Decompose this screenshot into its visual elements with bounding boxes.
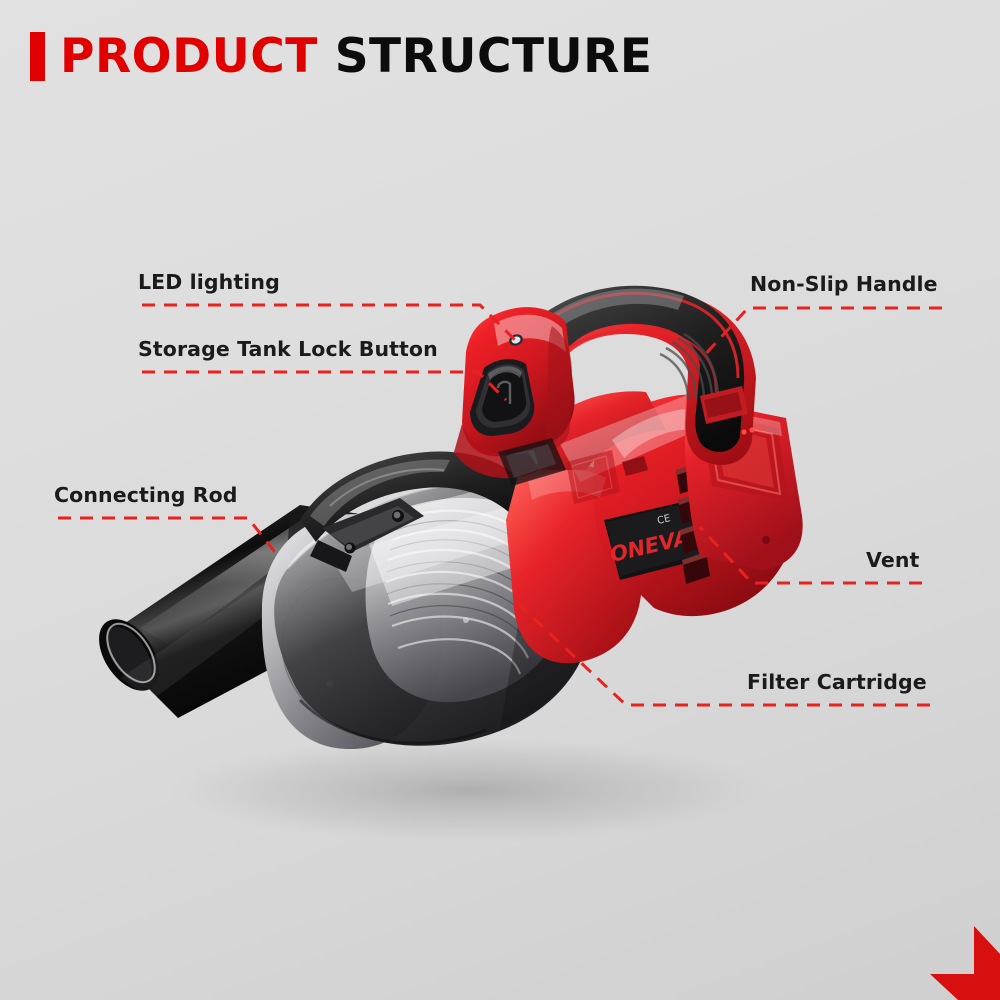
embossed-panel (566, 450, 620, 504)
leader-non-slip-handle (700, 308, 942, 360)
connecting-rod-nozzle (87, 505, 400, 718)
callout-connecting-rod: Connecting Rod (54, 483, 238, 507)
corner-chevron-decoration (910, 910, 1000, 1000)
non-slip-handle (498, 286, 762, 465)
brand-text: ONEVAN (608, 521, 710, 567)
dust-tank (262, 470, 600, 749)
filter-cartridge-visual (330, 470, 600, 702)
page-title: PRODUCT STRUCTURE (30, 26, 652, 86)
title-text: PRODUCT STRUCTURE (60, 33, 652, 80)
speed-indicator-lights (741, 425, 762, 434)
grip-ribs (660, 334, 718, 400)
vent-slot-highlights (676, 462, 707, 565)
title-accent-bar (30, 32, 45, 81)
main-body: ONEVAN CE (506, 390, 798, 663)
callout-vent: Vent (866, 548, 919, 572)
front-head (454, 307, 575, 478)
vent-slots (676, 462, 710, 584)
callout-non-slip-handle: Non-Slip Handle (750, 272, 938, 296)
storage-tank-lock-button-visual (470, 359, 534, 436)
callout-storage-tank-lock-button: Storage Tank Lock Button (138, 337, 438, 361)
leader-storage-tank-lock-button (142, 372, 506, 400)
leader-led-lighting (142, 305, 516, 341)
product-shadow (170, 738, 770, 842)
title-word-product: PRODUCT (60, 29, 318, 84)
title-word-structure: STRUCTURE (335, 29, 653, 84)
callout-filter-cartridge: Filter Cartridge (747, 670, 927, 694)
battery-mount (685, 398, 803, 570)
upper-connecting-tube (300, 452, 534, 572)
junction-highlight (506, 444, 556, 478)
led-lighting-visual (508, 333, 525, 348)
infographic-page: PRODUCT STRUCTURE (0, 0, 1000, 1000)
leader-connecting-rod (58, 518, 278, 556)
ce-mark-text: CE (656, 513, 671, 527)
body-tank-junction (498, 438, 566, 486)
callout-led-lighting: LED lighting (138, 270, 280, 294)
title-word-spacer (318, 29, 335, 84)
